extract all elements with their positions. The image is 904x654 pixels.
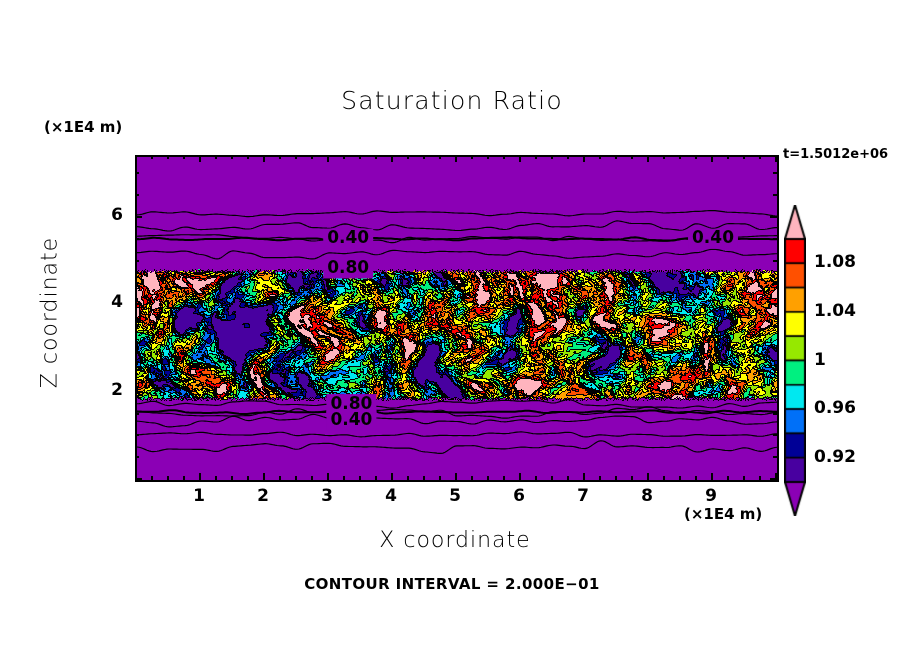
x-axis-tick-label: 1 (179, 486, 219, 506)
colorbar-tick-label: 0.96 (814, 398, 856, 418)
x-axis-tick (247, 476, 249, 480)
timestamp-label: t=1.5012e+06 (783, 147, 888, 162)
x-axis-tick-top (295, 155, 297, 159)
y-axis-tick (135, 282, 139, 284)
y-axis-tick-right (773, 194, 777, 196)
y-axis-tick-right (770, 216, 777, 218)
x-axis-tick-label: 6 (499, 486, 539, 506)
x-axis-tick (375, 476, 377, 480)
colorbar-tick-label: 1 (814, 350, 826, 370)
x-axis-tick-top (455, 155, 457, 162)
x-axis-tick-top (759, 155, 761, 159)
x-axis-tick-top (247, 155, 249, 159)
x-axis-tick-label: 7 (563, 486, 603, 506)
y-axis-tick-label: 4 (83, 292, 123, 312)
x-axis-tick-top (199, 155, 201, 162)
colorbar (784, 205, 806, 516)
y-axis-tick (135, 303, 142, 305)
contour-interval-caption: CONTOUR INTERVAL = 2.000E−01 (0, 575, 904, 593)
y-axis-tick-label: 2 (83, 380, 123, 400)
figure-root: Saturation Ratio (×1E4 m) t=1.5012e+06 1… (0, 0, 904, 654)
x-axis-tick-top (567, 155, 569, 159)
x-axis-tick (615, 476, 617, 480)
x-axis-tick-top (135, 155, 137, 162)
x-axis-tick (423, 476, 425, 480)
colorbar-tick-label: 1.08 (814, 252, 856, 272)
y-axis-tick (135, 216, 142, 218)
x-axis-tick-top (679, 155, 681, 159)
x-axis-tick (359, 476, 361, 480)
y-axis-tick-right (770, 303, 777, 305)
x-axis-tick-top (359, 155, 361, 159)
y-axis-tick (135, 172, 139, 174)
page-title: Saturation Ratio (0, 86, 904, 115)
x-axis-tick (311, 476, 313, 480)
x-axis-tick (439, 476, 441, 480)
x-axis-tick-top (471, 155, 473, 159)
x-axis-tick-top (647, 155, 649, 162)
x-axis-tick (743, 476, 745, 480)
x-axis-tick-label: 5 (435, 486, 475, 506)
y-axis-tick-right (773, 369, 777, 371)
x-axis-tick (535, 476, 537, 480)
y-axis-tick (135, 194, 139, 196)
x-axis-tick (599, 476, 601, 480)
y-axis-tick (135, 260, 139, 262)
y-axis-tick-right (770, 391, 777, 393)
x-axis-tick (487, 476, 489, 480)
x-axis-tick-top (695, 155, 697, 159)
y-axis-tick-right (773, 413, 777, 415)
y-axis-tick (135, 325, 139, 327)
x-axis-tick (759, 476, 761, 480)
x-axis-tick-label: 2 (243, 486, 283, 506)
x-axis-tick-top (439, 155, 441, 159)
x-axis-tick-top (631, 155, 633, 159)
x-axis-tick-top (551, 155, 553, 159)
y-axis-tick (135, 369, 139, 371)
y-axis-tick (135, 456, 139, 458)
x-axis-tick-top (151, 155, 153, 159)
saturation-field-canvas (137, 157, 777, 480)
y-axis-tick-right (773, 282, 777, 284)
x-axis-tick (455, 473, 457, 480)
x-axis-tick-top (407, 155, 409, 159)
y-axis-tick-right (773, 434, 777, 436)
z-axis-unit-label: (×1E4 m) (44, 118, 122, 136)
x-axis-tick (407, 476, 409, 480)
colorbar-tick-label: 0.92 (814, 447, 856, 467)
x-axis-tick-top (583, 155, 585, 162)
y-axis-tick-right (773, 260, 777, 262)
x-axis-tick-top (263, 155, 265, 162)
x-axis-tick (183, 476, 185, 480)
y-axis-tick-right (770, 478, 777, 480)
x-axis-tick (727, 476, 729, 480)
y-axis-tick-right (773, 325, 777, 327)
x-axis-tick (631, 476, 633, 480)
x-axis-tick (231, 476, 233, 480)
x-axis-tick (295, 476, 297, 480)
y-axis-tick (135, 434, 139, 436)
x-axis-tick (151, 476, 153, 480)
x-axis-tick-top (743, 155, 745, 159)
y-axis-tick (135, 413, 139, 415)
x-axis-unit-label: (×1E4 m) (684, 505, 762, 523)
x-axis-tick-top (279, 155, 281, 159)
x-axis-tick-top (327, 155, 329, 162)
x-axis-tick (583, 473, 585, 480)
x-axis-tick (679, 476, 681, 480)
x-axis-tick-top (535, 155, 537, 159)
y-axis-tick-right (773, 172, 777, 174)
x-axis-tick (503, 476, 505, 480)
x-axis-tick (711, 473, 713, 480)
x-axis-tick-top (599, 155, 601, 159)
y-axis-tick-label: 6 (83, 205, 123, 225)
x-axis-tick (663, 476, 665, 480)
colorbar-canvas (784, 205, 806, 516)
x-axis-tick-label: 3 (307, 486, 347, 506)
x-axis-tick (263, 473, 265, 480)
x-axis-tick-top (519, 155, 521, 162)
x-axis-tick (199, 473, 201, 480)
x-axis-title: X coordinate (135, 528, 775, 553)
y-axis-tick (135, 347, 139, 349)
x-axis-tick (519, 473, 521, 480)
x-axis-tick (471, 476, 473, 480)
x-axis-tick-top (391, 155, 393, 162)
y-axis-tick-right (773, 238, 777, 240)
x-axis-tick (551, 476, 553, 480)
x-axis-tick (647, 473, 649, 480)
x-axis-tick-top (375, 155, 377, 159)
x-axis-tick-top (231, 155, 233, 159)
x-axis-tick (343, 476, 345, 480)
x-axis-tick (391, 473, 393, 480)
x-axis-tick (215, 476, 217, 480)
x-axis-tick-label: 8 (627, 486, 667, 506)
x-axis-tick-top (727, 155, 729, 159)
x-axis-tick-top (615, 155, 617, 159)
x-axis-tick-top (343, 155, 345, 159)
x-axis-tick-top (487, 155, 489, 159)
x-axis-tick (327, 473, 329, 480)
x-axis-tick-top (711, 155, 713, 162)
x-axis-tick (695, 476, 697, 480)
x-axis-tick (279, 476, 281, 480)
colorbar-tick-label: 1.04 (814, 301, 856, 321)
x-axis-tick-top (183, 155, 185, 159)
y-axis-tick-right (773, 347, 777, 349)
x-axis-tick-top (423, 155, 425, 159)
x-axis-tick-top (311, 155, 313, 159)
y-axis-tick (135, 391, 142, 393)
y-axis-tick (135, 238, 139, 240)
x-axis-tick-top (167, 155, 169, 159)
x-axis-tick (167, 476, 169, 480)
contour-plot-panel (135, 155, 779, 482)
x-axis-tick-top (663, 155, 665, 159)
y-axis-tick (135, 478, 142, 480)
x-axis-tick-top (215, 155, 217, 159)
x-axis-tick-label: 4 (371, 486, 411, 506)
x-axis-tick (567, 476, 569, 480)
y-axis-title: Z coordinate (38, 203, 63, 423)
y-axis-tick-right (773, 456, 777, 458)
x-axis-tick-label: 9 (691, 486, 731, 506)
x-axis-tick-top (503, 155, 505, 159)
x-axis-tick-top (775, 155, 777, 162)
